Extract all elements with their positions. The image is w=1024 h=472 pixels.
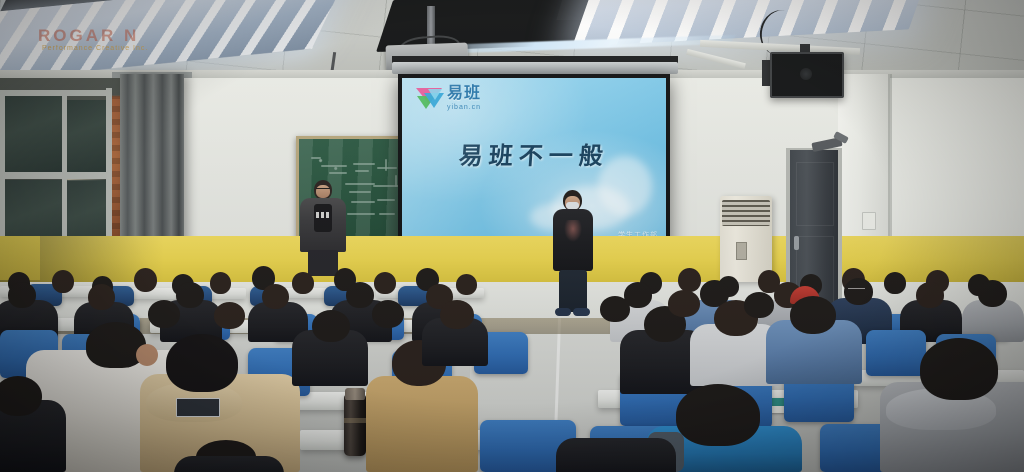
chair[interactable] — [866, 330, 926, 376]
student-body — [174, 456, 284, 472]
student-head — [920, 338, 998, 400]
air-conditioner-panel[interactable] — [736, 242, 747, 260]
student-head — [678, 268, 701, 292]
student-head — [166, 334, 238, 392]
student-head — [916, 282, 944, 308]
presenter-at-blackboard — [300, 180, 348, 276]
student-head — [292, 272, 314, 294]
screen-housing — [392, 62, 678, 74]
jacket-patch — [176, 398, 220, 417]
student-head — [600, 296, 630, 322]
door-panel-upper — [796, 162, 834, 226]
student-head — [214, 302, 245, 329]
bottle-cap — [345, 388, 365, 400]
student-head — [978, 280, 1007, 307]
wall-speaker — [770, 52, 844, 98]
window-pane — [4, 96, 62, 174]
student-head — [88, 284, 115, 310]
glasses-icon — [848, 288, 865, 292]
door-handle[interactable] — [794, 236, 799, 250]
student-head — [668, 290, 700, 317]
window-frame — [0, 90, 112, 96]
water-bottle[interactable] — [344, 394, 366, 456]
jacket-print-line-1: ROGAR N — [38, 26, 156, 42]
student-khaki-jacket — [366, 376, 478, 472]
standing-student — [553, 190, 595, 318]
student-head — [884, 272, 906, 294]
student-head — [134, 268, 157, 292]
student-ear — [136, 344, 158, 366]
student-head — [374, 272, 396, 294]
student-head — [8, 282, 36, 308]
student-head — [312, 310, 350, 342]
student-head — [262, 284, 289, 309]
student-head — [440, 300, 474, 329]
student-head — [0, 376, 42, 416]
student-head — [790, 296, 836, 334]
jacket-print-line-2: Performance Creative Inc. — [42, 45, 152, 54]
student-head — [210, 272, 231, 294]
student-head — [176, 282, 204, 308]
student-head — [456, 274, 477, 295]
air-conditioner-vents — [722, 200, 770, 226]
student-head — [52, 270, 74, 293]
jacket-back-print: ROGAR N Performance Creative Inc. — [38, 26, 156, 56]
window-pane — [66, 100, 108, 174]
bottle-band — [344, 418, 366, 423]
light-switch[interactable] — [862, 212, 876, 230]
classroom-photo: 易班 yiban.cn 易班不一般 学生工作部 — [0, 0, 1024, 472]
student-head — [676, 384, 760, 446]
student-head — [346, 282, 374, 308]
window-frame — [0, 172, 112, 179]
student-head — [744, 292, 774, 318]
student-head — [148, 300, 180, 328]
student-body — [556, 438, 676, 472]
student-head — [372, 300, 404, 328]
screen-glare — [402, 78, 666, 256]
